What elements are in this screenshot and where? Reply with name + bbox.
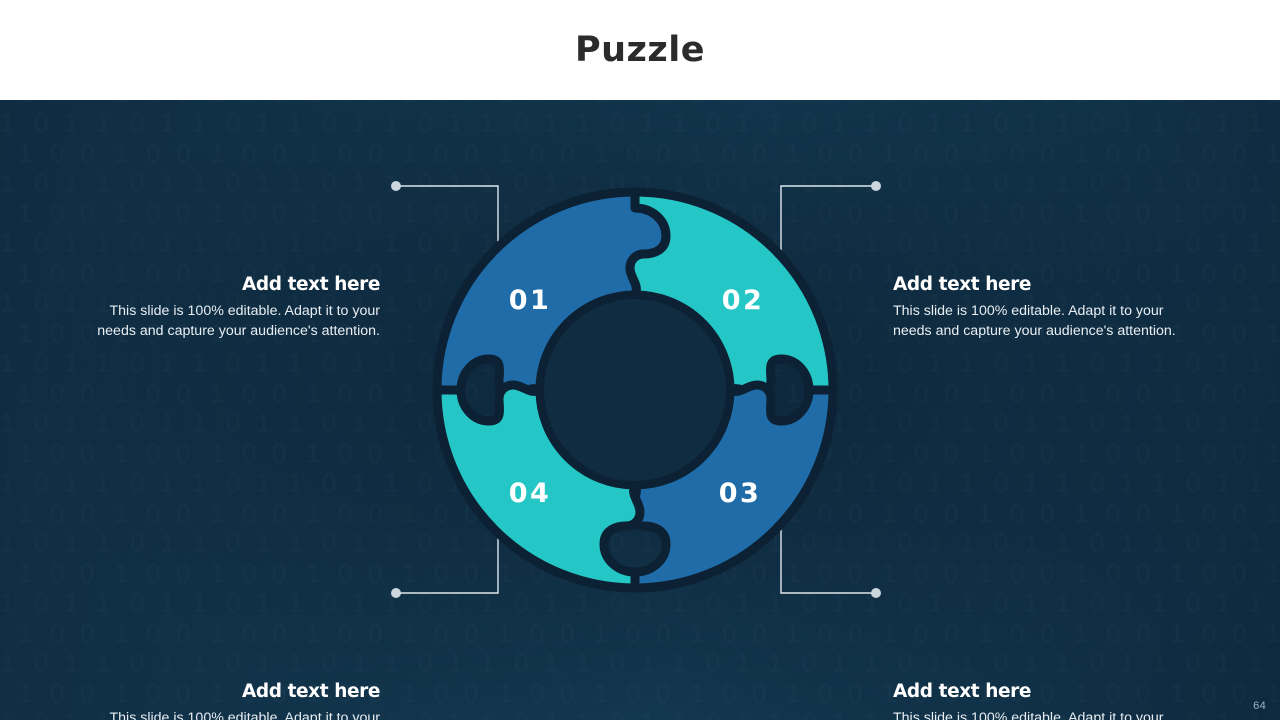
puzzle-center-hole <box>544 299 726 481</box>
page-number: 64 <box>1253 700 1266 712</box>
callout-01-heading: Add text here <box>90 274 380 295</box>
callout-04: Add text here This slide is 100% editabl… <box>90 681 380 720</box>
callout-04-heading: Add text here <box>90 681 380 702</box>
callout-02-heading: Add text here <box>893 274 1183 295</box>
slide: Puzzle 0 1 0 1 0 1 <box>0 0 1280 720</box>
callout-02-body: This slide is 100% editable. Adapt it to… <box>893 302 1183 341</box>
callout-03: Add text here This slide is 100% editabl… <box>893 681 1183 720</box>
puzzle-segment-01-number: 01 <box>509 285 552 316</box>
slide-canvas: 0 1 0 1 0 1 <box>0 100 1280 720</box>
callout-02: Add text here This slide is 100% editabl… <box>893 274 1183 342</box>
slide-header: Puzzle <box>0 0 1280 100</box>
callout-03-heading: Add text here <box>893 681 1183 702</box>
puzzle-segment-04-number: 04 <box>509 478 552 509</box>
puzzle-donut-diagram: 01 02 03 04 <box>430 182 840 598</box>
page-title: Puzzle <box>575 33 705 68</box>
callout-01: Add text here This slide is 100% editabl… <box>90 274 380 342</box>
puzzle-segment-03-number: 03 <box>719 478 762 509</box>
puzzle-segment-02-number: 02 <box>722 285 765 316</box>
callout-03-body: This slide is 100% editable. Adapt it to… <box>893 709 1183 720</box>
callout-04-body: This slide is 100% editable. Adapt it to… <box>90 709 380 720</box>
callout-01-body: This slide is 100% editable. Adapt it to… <box>90 302 380 341</box>
